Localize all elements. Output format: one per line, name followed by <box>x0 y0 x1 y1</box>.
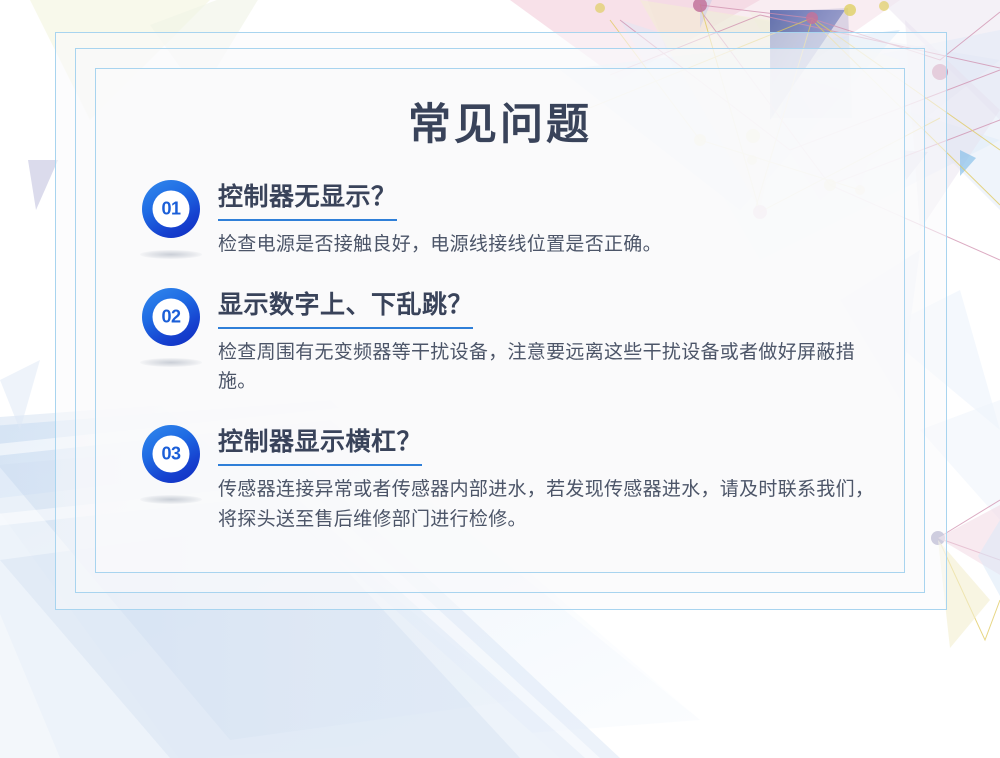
faq-marker-wrap: 03 <box>140 423 218 501</box>
map-pin-icon: 01 <box>142 180 200 256</box>
faq-number: 03 <box>153 435 190 472</box>
faq-marker-wrap: 02 <box>140 286 218 364</box>
faq-item: 02 显示数字上、下乱跳？ 检查周围有无变频器等干扰设备，注意要远离这些干扰设备… <box>140 286 900 397</box>
pin-shadow <box>140 358 202 367</box>
faq-body: 控制器无显示？ 检查电源是否接触良好，电源线接线位置是否正确。 <box>218 178 900 260</box>
map-pin-icon: 02 <box>142 288 200 364</box>
pin-shadow <box>140 495 202 504</box>
faq-answer: 传感器连接异常或者传感器内部进水，若发现传感器进水，请及时联系我们，将探头送至售… <box>218 475 890 534</box>
faq-marker-wrap: 01 <box>140 178 218 256</box>
faq-number: 01 <box>153 191 190 228</box>
faq-body: 控制器显示横杠？ 传感器连接异常或者传感器内部进水，若发现传感器进水，请及时联系… <box>218 423 900 534</box>
map-pin-icon: 03 <box>142 425 200 501</box>
content-panel: 常见问题 01 控制器无显示？ 检查电源是否接触良好，电源线接线位置是否正确。 <box>95 68 905 573</box>
faq-list: 01 控制器无显示？ 检查电源是否接触良好，电源线接线位置是否正确。 02 <box>140 178 900 560</box>
faq-item: 03 控制器显示横杠？ 传感器连接异常或者传感器内部进水，若发现传感器进水，请及… <box>140 423 900 534</box>
page-root: 常见问题 01 控制器无显示？ 检查电源是否接触良好，电源线接线位置是否正确。 <box>0 0 1000 758</box>
faq-answer: 检查电源是否接触良好，电源线接线位置是否正确。 <box>218 230 890 259</box>
page-title: 常见问题 <box>95 90 905 152</box>
faq-question: 控制器无显示？ <box>218 182 397 221</box>
faq-question: 控制器显示横杠？ <box>218 427 422 466</box>
faq-body: 显示数字上、下乱跳？ 检查周围有无变频器等干扰设备，注意要远离这些干扰设备或者做… <box>218 286 900 397</box>
faq-answer: 检查周围有无变频器等干扰设备，注意要远离这些干扰设备或者做好屏蔽措施。 <box>218 338 890 397</box>
pin-shadow <box>140 250 202 259</box>
faq-number: 02 <box>153 298 190 335</box>
faq-question: 显示数字上、下乱跳？ <box>218 290 473 329</box>
faq-item: 01 控制器无显示？ 检查电源是否接触良好，电源线接线位置是否正确。 <box>140 178 900 260</box>
